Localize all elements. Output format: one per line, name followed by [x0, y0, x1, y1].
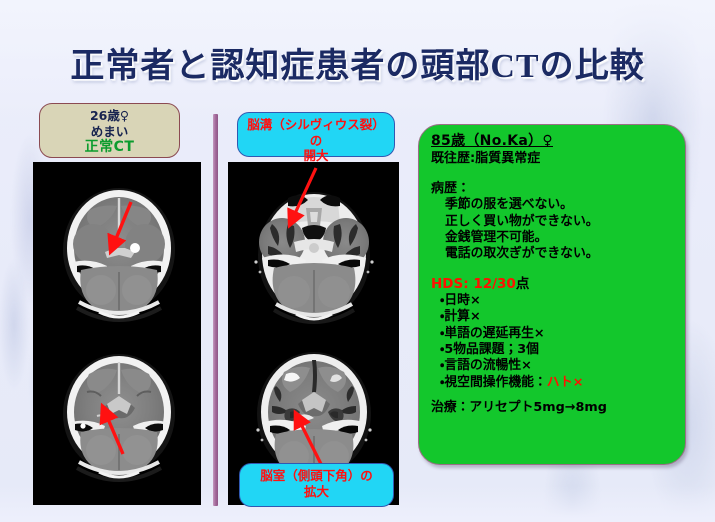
past-history: 既往歴:脂質異常症: [431, 151, 675, 168]
spacer-2: [431, 263, 675, 276]
ventricle-callout-line2: 拡大: [246, 484, 387, 500]
dementia-ct-upper-panel: [228, 162, 399, 334]
hds-score-unit: 点: [516, 276, 530, 292]
treatment-line: 治療：アリセプト5mg→8mg: [431, 400, 675, 416]
slide-title: 正常者と認知症患者の頭部CTの比較: [0, 38, 715, 87]
normal-case-age-sex: 26歳♀: [40, 108, 179, 124]
normal-case-label-box: 26歳♀ めまい 正常CT: [39, 103, 180, 158]
course-item: 金銭管理不可能。: [431, 230, 675, 246]
ventricle-enlargement-callout: 脳室（側頭下角）の 拡大: [239, 463, 394, 507]
hds-item: ・日時×: [431, 293, 675, 309]
ventricle-callout-line1: 脳室（側頭下角）の: [246, 468, 387, 484]
clinical-info-panel: 85歳（No.Ka）♀ 既往歴:脂質異常症 病歴： 季節の服を選べない。 正しく…: [418, 124, 686, 465]
hds-item: ・言語の流暢性×: [431, 358, 675, 374]
normal-case-verdict: 正常CT: [40, 139, 179, 157]
hds-item: ・単語の遅延再生×: [431, 326, 675, 342]
normal-ct-upper-panel: [33, 162, 201, 334]
slide-root: 正常者と認知症患者の頭部CTの比較 26歳♀ めまい 正常CT: [0, 0, 715, 522]
sulci-callout-line1: 脳溝（シルヴィウス裂）の: [244, 117, 388, 148]
spacer-1: [431, 168, 675, 181]
sulci-widening-callout: 脳溝（シルヴィウス裂）の 開大: [237, 112, 395, 157]
normal-ct-lower-panel: [33, 334, 201, 505]
patient-header: 85歳（No.Ka）♀: [431, 133, 675, 151]
course-item: 正しく買い物ができない。: [431, 214, 675, 230]
course-item: 電話の取次ぎができない。: [431, 246, 675, 262]
hds-score-label: HDS: 12/30: [431, 276, 516, 292]
normal-ct-upper-slice: [33, 162, 201, 334]
column-divider: [213, 114, 218, 506]
normal-ct-lower-slice: [33, 334, 201, 505]
hds-item-visuospatial: ・視空間操作機能：ハト×: [431, 375, 675, 391]
normal-case-symptom: めまい: [40, 124, 179, 140]
visuospatial-value: ハト×: [547, 375, 584, 390]
spacer-3: [431, 391, 675, 400]
course-title: 病歴：: [431, 181, 675, 198]
hds-item: ・5物品課題；3個: [431, 342, 675, 358]
hds-score-line: HDS: 12/30点: [431, 276, 675, 293]
visuospatial-label: ・視空間操作機能：: [440, 375, 547, 390]
dementia-ct-upper-slice: [228, 162, 399, 334]
hds-item: ・計算×: [431, 309, 675, 325]
course-item: 季節の服を選べない。: [431, 197, 675, 213]
